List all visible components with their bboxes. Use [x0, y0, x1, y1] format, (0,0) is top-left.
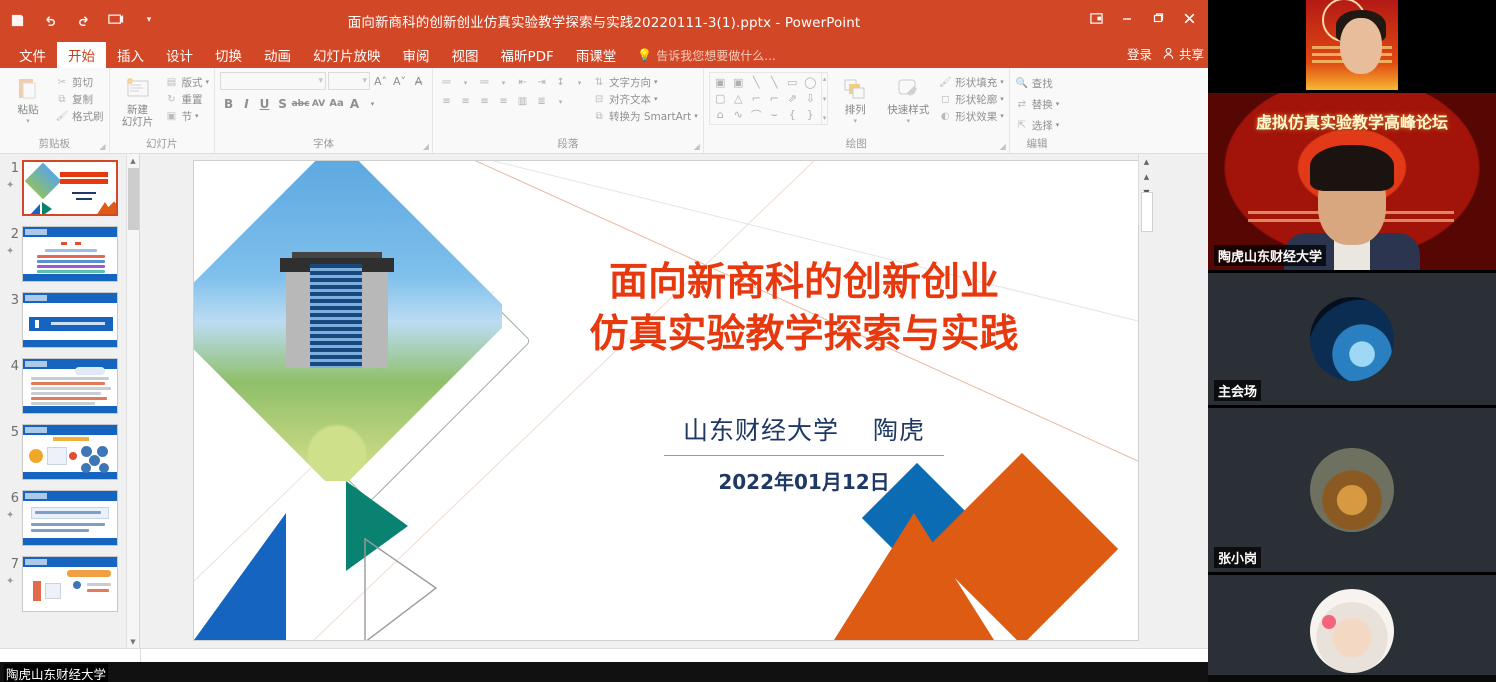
blue-triangle-shape: [194, 513, 286, 640]
girl-avatar: [1310, 589, 1394, 673]
quick-styles-icon: [893, 74, 923, 104]
arrange-label: 排列: [845, 105, 866, 117]
textbox-shape-icon[interactable]: ▣: [712, 75, 729, 90]
ribbon-tabs: 文件 开始 插入 设计 切换 动画 幻灯片放映 审阅 视图 福昕PDF 雨课堂 …: [0, 42, 1208, 68]
slide-scrollbar[interactable]: ▲ ▲ ▼ ⏫ ⏬: [1138, 154, 1154, 225]
chevron-down-icon: ▾: [195, 112, 199, 120]
tab-file[interactable]: 文件: [8, 42, 57, 68]
smartart-icon: ⧉: [592, 109, 606, 123]
ribbon-group-clipboard: 粘贴 ▾ ✂ 剪切 ⧉ 复制 🖌: [0, 68, 110, 153]
building-graphic: [278, 250, 396, 370]
align-center-icon[interactable]: ≡: [457, 94, 474, 109]
author-rule: [664, 455, 944, 456]
strikethrough-button[interactable]: abc: [292, 95, 309, 112]
cut-label: 剪切: [72, 75, 93, 90]
line-arrow-shape-icon[interactable]: ╲: [766, 75, 783, 90]
slide-canvas-pane[interactable]: 面向新商科的创新创业 仿真实验教学探索与实践 山东财经大学陶虎 2022年01月…: [140, 154, 1208, 648]
slide-title-line1: 面向新商科的创新创业: [524, 257, 1084, 309]
shape-outline-icon: ◻: [938, 92, 952, 106]
paragraph-dialog-launcher[interactable]: ◢: [694, 142, 700, 151]
thumb-image: [22, 226, 118, 282]
thumb-number: 4: [2, 358, 19, 373]
align-text-button[interactable]: ⊟ 对齐文本 ▾: [592, 91, 698, 107]
editor-body: 1 ✦: [0, 154, 1208, 648]
increase-font-size-icon[interactable]: A˄: [372, 73, 389, 90]
window-title: 面向新商科的创新创业仿真实验教学探索与实践20220111-3(1).pptx …: [0, 11, 1208, 31]
new-slide-label: 新建幻灯片: [122, 105, 154, 129]
increase-indent-icon[interactable]: ⇥: [533, 75, 550, 90]
paste-button[interactable]: 粘贴 ▾: [5, 72, 51, 125]
character-spacing-button[interactable]: AV: [310, 95, 327, 112]
scroll-up-icon[interactable]: ▲: [1139, 169, 1154, 184]
window-controls: [1081, 6, 1204, 30]
taskbar-strip: 陶虎山东财经大学: [0, 662, 1208, 682]
scroll-thumb[interactable]: [1141, 192, 1153, 232]
new-slide-icon: [123, 74, 153, 104]
select-button[interactable]: ⇱ 选择 ▾: [1015, 116, 1060, 134]
arc-shape-icon[interactable]: ⌒: [748, 107, 765, 122]
slide-canvas[interactable]: 面向新商科的创新创业 仿真实验教学探索与实践 山东财经大学陶虎 2022年01月…: [194, 161, 1138, 640]
font-size-input[interactable]: ▾: [328, 72, 370, 90]
scribble-shape-icon[interactable]: ∿: [730, 107, 747, 122]
ribbon-display-options-button[interactable]: [1081, 6, 1111, 30]
reset-label: 重置: [182, 92, 203, 107]
ribbon: 粘贴 ▾ ✂ 剪切 ⧉ 复制 🖌: [0, 68, 1208, 154]
slide-org: 山东财经大学: [683, 416, 839, 445]
replace-button[interactable]: ⇄ 替换 ▾: [1015, 95, 1060, 113]
participant-name: 主会场: [1214, 380, 1261, 401]
clipboard-dialog-launcher[interactable]: ◢: [99, 142, 105, 151]
rect-shape-icon[interactable]: ▭: [784, 75, 801, 90]
participant-video-feed: [1306, 0, 1398, 90]
collapse-ribbon-icon[interactable]: ▲: [1139, 154, 1154, 169]
align-text-label: 对齐文本: [609, 92, 651, 107]
replace-icon: ⇄: [1015, 97, 1029, 111]
copy-icon: ⧉: [55, 92, 69, 106]
reset-icon: ↻: [165, 92, 179, 106]
participant-tile-taohu[interactable]: 虚拟仿真实验教学高峰论坛 陶虎山东财经大学: [1208, 93, 1496, 270]
thumb-image: [22, 556, 118, 612]
shape-effects-icon: ◐: [938, 109, 952, 123]
paste-label: 粘贴: [18, 105, 39, 117]
slide-thumbnail-5[interactable]: 5: [2, 424, 139, 480]
ribbon-group-editing: 🔍 查找 ⇄ 替换 ▾ ⇱ 选择 ▾: [1010, 68, 1065, 153]
tab-rain-classroom[interactable]: 雨课堂: [565, 42, 628, 68]
restore-button[interactable]: [1143, 6, 1173, 30]
paintbrush-icon: 🖌: [55, 109, 69, 123]
thumb-number: 5: [2, 424, 19, 439]
text-columns-icon[interactable]: ≣: [533, 94, 550, 109]
ribbon-group-drawing: ▣ ▣ ╲ ╲ ▭ ◯ ▢ △ ⌐ ⌐ ⇗ ⇩ ⌂: [704, 68, 1010, 153]
thumb-number: 7: [2, 556, 19, 571]
find-button[interactable]: 🔍 查找: [1015, 74, 1060, 92]
text-direction-label: 文字方向: [609, 75, 651, 90]
copy-button[interactable]: ⧉ 复制: [55, 91, 104, 107]
elbow-connector-icon[interactable]: ⌐: [748, 91, 765, 106]
thumb-number: 6: [2, 490, 19, 505]
align-right-icon[interactable]: ≡: [476, 94, 493, 109]
shape-effects-button[interactable]: ◐ 形状效果 ▾: [938, 108, 1004, 124]
font-color-button[interactable]: A: [346, 95, 363, 112]
format-painter-button[interactable]: 🖌 格式刷: [55, 108, 104, 124]
new-slide-button[interactable]: 新建幻灯片: [115, 72, 161, 129]
change-case-button[interactable]: Aa: [328, 95, 345, 112]
drawing-dialog-launcher[interactable]: ◢: [1000, 142, 1006, 151]
chevron-down-icon: ▾: [1056, 100, 1060, 108]
replace-label: 替换: [1032, 97, 1053, 112]
tell-me-label: 告诉我您想要做什么...: [656, 47, 775, 64]
chevron-down-icon: ▾: [1000, 95, 1004, 103]
powerpoint-window: ▾ 面向新商科的创新创业仿真实验教学探索与实践20220111-3(1).ppt…: [0, 0, 1208, 682]
quick-styles-button[interactable]: 快速样式 ▾: [882, 72, 934, 125]
shape-fill-icon: 🖌: [938, 75, 952, 89]
find-label: 查找: [1032, 76, 1053, 91]
decrease-font-size-icon[interactable]: A˅: [391, 73, 408, 90]
chevron-down-icon: ▾: [1000, 112, 1004, 120]
chevron-down-icon: ▾: [654, 95, 658, 103]
slide-title-line2: 仿真实验教学探索与实践: [524, 309, 1084, 361]
shapes-gallery[interactable]: ▣ ▣ ╲ ╲ ▭ ◯ ▢ △ ⌐ ⌐ ⇗ ⇩ ⌂: [709, 72, 822, 125]
align-left-icon[interactable]: ≡: [438, 94, 455, 109]
left-brace-icon[interactable]: {: [784, 107, 801, 122]
participant-name: 陶虎山东财经大学: [1214, 245, 1326, 266]
thumb-image: [22, 424, 118, 480]
animation-star-icon: ✦: [6, 576, 14, 587]
shape-fill-label: 形状填充: [955, 75, 997, 90]
arrange-button[interactable]: 排列 ▾: [832, 72, 878, 125]
slide-thumbnail-1[interactable]: 1 ✦: [2, 160, 139, 216]
chevron-down-icon[interactable]: ▾: [823, 95, 827, 103]
text-direction-icon: ⇅: [592, 75, 606, 89]
thumb-number: 1: [2, 160, 19, 175]
text-direction-button[interactable]: ⇅ 文字方向 ▾: [592, 74, 698, 90]
group-label-font: 字体: [313, 136, 334, 153]
tab-insert[interactable]: 插入: [106, 42, 155, 68]
video-participants-panel: 张莉 虚拟仿真实验教学高峰论坛 陶虎山东财经大学 主会场 张小岗: [1208, 0, 1496, 682]
forum-banner-text: 虚拟仿真实验教学高峰论坛: [1208, 109, 1496, 133]
ribbon-group-slides: 新建幻灯片 ▤ 版式 ▾ ↻ 重置 ▣: [110, 68, 216, 153]
chevron-down-icon[interactable]: ▾: [571, 75, 588, 90]
ribbon-group-font: ▾ ▾ A˄ A˅ A̶ B I U S abc: [215, 68, 433, 153]
paste-icon: [13, 74, 43, 104]
slide-presenter: 陶虎: [873, 416, 925, 445]
freeform-shape-icon[interactable]: ⌂: [712, 107, 729, 122]
slide-thumbnail-7[interactable]: 7 ✦: [2, 556, 139, 612]
more-shapes-icon[interactable]: ▾: [823, 114, 827, 122]
line-shape-icon[interactable]: ╲: [748, 75, 765, 90]
tab-transitions[interactable]: 切换: [204, 42, 253, 68]
layout-button[interactable]: ▤ 版式 ▾: [165, 74, 210, 90]
violin-avatar: [1310, 448, 1394, 532]
font-name-input[interactable]: ▾: [220, 72, 326, 90]
animation-star-icon: ✦: [6, 180, 14, 191]
chevron-down-icon: ▾: [206, 78, 210, 86]
group-label-paragraph: 段落: [557, 136, 578, 153]
shape-outline-button[interactable]: ◻ 形状轮廓 ▾: [938, 91, 1004, 107]
triangle-shape-icon[interactable]: △: [730, 91, 747, 106]
scissors-icon: ✂: [55, 75, 69, 89]
shape-outline-label: 形状轮廓: [955, 92, 997, 107]
cut-button[interactable]: ✂ 剪切: [55, 74, 104, 90]
thumb-image: [22, 292, 118, 348]
group-label-slides: 幻灯片: [146, 136, 178, 153]
section-button[interactable]: ▣ 节 ▾: [165, 108, 210, 124]
align-text-icon: ⊟: [592, 92, 606, 106]
tab-view[interactable]: 视图: [441, 42, 490, 68]
scroll-down-icon[interactable]: ▼: [127, 635, 139, 648]
speaker-name-label: 陶虎山东财经大学: [4, 664, 108, 682]
bullets-icon[interactable]: ≔: [438, 75, 455, 90]
chevron-down-icon: ▾: [1056, 121, 1060, 129]
quick-styles-label: 快速样式: [887, 105, 929, 117]
animation-star-icon: ✦: [6, 246, 14, 257]
line-spacing-icon[interactable]: ↕: [552, 75, 569, 90]
chevron-down-icon: ▾: [1000, 78, 1004, 86]
font-dialog-launcher[interactable]: ◢: [423, 142, 429, 151]
participant-tile-mainhall[interactable]: 主会场: [1208, 273, 1496, 405]
decrease-indent-icon[interactable]: ⇤: [514, 75, 531, 90]
participant-tile-zhangli[interactable]: 张莉: [1208, 0, 1496, 90]
tell-me-search[interactable]: 💡 告诉我您想要做什么...: [637, 42, 775, 68]
slide-thumbnail-2[interactable]: 2 ✦: [2, 226, 139, 282]
curved-arrow-icon[interactable]: ⇗: [784, 91, 801, 106]
thumb-image: [22, 160, 118, 216]
slide-thumbnail-pane[interactable]: 1 ✦: [0, 154, 140, 648]
shapes-gallery-scroll[interactable]: ▴ ▾ ▾: [822, 72, 829, 125]
ribbon-group-paragraph: ≔ ▾ ≔ ▾ ⇤ ⇥ ↕ ▾ ≡ ≡ ≡: [433, 68, 704, 153]
minimize-button[interactable]: [1112, 6, 1142, 30]
search-icon: 🔍: [1015, 76, 1029, 90]
down-arrow-icon[interactable]: ⇩: [802, 91, 819, 106]
paste-dropdown-icon[interactable]: ▾: [26, 117, 30, 125]
speaker-face: [1340, 18, 1382, 74]
bold-button[interactable]: B: [220, 95, 237, 112]
chevron-down-icon[interactable]: ▾: [495, 75, 512, 90]
select-label: 选择: [1032, 118, 1053, 133]
right-brace-icon[interactable]: }: [802, 107, 819, 122]
animation-star-icon: ✦: [6, 510, 14, 521]
tab-design[interactable]: 设计: [155, 42, 204, 68]
earth-avatar: [1310, 297, 1394, 381]
slide-thumbnail-3[interactable]: 3: [2, 292, 139, 348]
thumb-number: 3: [2, 292, 19, 307]
shape-effects-label: 形状效果: [955, 109, 997, 124]
thumbnail-scrollbar[interactable]: ▲ ▼: [126, 154, 139, 648]
section-icon: ▣: [165, 109, 179, 123]
underline-button[interactable]: U: [256, 95, 273, 112]
chevron-up-icon[interactable]: ▴: [823, 75, 827, 83]
thumb-image: [22, 358, 118, 414]
text-shadow-button[interactable]: S: [274, 95, 291, 112]
chevron-down-icon[interactable]: ▾: [364, 95, 381, 112]
group-label-editing: 编辑: [1027, 136, 1048, 153]
format-painter-label: 格式刷: [72, 109, 104, 124]
participant-name: 张小岗: [1214, 547, 1261, 568]
select-icon: ⇱: [1015, 118, 1029, 132]
thumb-image: [22, 490, 118, 546]
slide-thumbnail-4[interactable]: 4: [2, 358, 139, 414]
thumb-number: 2: [2, 226, 19, 241]
convert-to-smartart-button[interactable]: ⧉ 转换为 SmartArt ▾: [592, 108, 698, 124]
tab-review[interactable]: 审阅: [392, 42, 441, 68]
clear-formatting-icon[interactable]: A̶: [410, 73, 427, 90]
slide-title: 面向新商科的创新创业 仿真实验教学探索与实践: [524, 257, 1084, 361]
chevron-down-icon: ▾: [694, 112, 698, 120]
numbering-icon[interactable]: ≔: [476, 75, 493, 90]
lightbulb-icon: 💡: [637, 48, 652, 62]
tab-foxit-pdf[interactable]: 福昕PDF: [490, 42, 565, 68]
slide-thumbnail-6[interactable]: 6 ✦: [2, 490, 139, 546]
textbox2-shape-icon[interactable]: ▣: [730, 75, 747, 90]
account-area: 登录 共享: [1127, 44, 1204, 63]
reset-button[interactable]: ↻ 重置: [165, 91, 210, 107]
participant-tile-next[interactable]: [1208, 575, 1496, 675]
tab-home[interactable]: 开始: [57, 42, 106, 68]
group-label-drawing: 绘图: [846, 136, 867, 153]
slide-author: 山东财经大学陶虎: [524, 411, 1084, 447]
copy-label: 复制: [72, 92, 93, 107]
sign-in-button[interactable]: 登录: [1127, 44, 1152, 63]
section-label: 节: [182, 109, 193, 124]
oval-shape-icon[interactable]: ◯: [802, 75, 819, 90]
chevron-down-icon[interactable]: ▾: [854, 117, 858, 125]
layout-icon: ▤: [165, 75, 179, 89]
smartart-label: 转换为 SmartArt: [609, 109, 691, 124]
arc2-shape-icon[interactable]: ⌣: [766, 107, 783, 122]
tab-slideshow[interactable]: 幻灯片放映: [302, 42, 392, 68]
chevron-down-icon[interactable]: ▾: [552, 94, 569, 109]
elbow-arrow-icon[interactable]: ⌐: [766, 91, 783, 106]
share-button[interactable]: 共享: [1162, 44, 1204, 63]
scroll-thumb[interactable]: [128, 168, 139, 230]
rounded-rect-shape-icon[interactable]: ▢: [712, 91, 729, 106]
italic-button[interactable]: I: [238, 95, 255, 112]
tab-animations[interactable]: 动画: [253, 42, 302, 68]
person-icon: [1162, 47, 1175, 60]
layout-label: 版式: [182, 75, 203, 90]
justify-icon[interactable]: ≡: [495, 94, 512, 109]
close-button[interactable]: [1174, 6, 1204, 30]
title-bar: ▾ 面向新商科的创新创业仿真实验教学探索与实践20220111-3(1).ppt…: [0, 0, 1208, 42]
columns-icon[interactable]: ▥: [514, 94, 531, 109]
scroll-up-icon[interactable]: ▲: [127, 154, 139, 167]
arrange-icon: [840, 74, 870, 104]
chevron-down-icon[interactable]: ▾: [457, 75, 474, 90]
chevron-down-icon: ▾: [654, 78, 658, 86]
share-label: 共享: [1179, 44, 1204, 63]
chevron-down-icon[interactable]: ▾: [907, 117, 911, 125]
shape-fill-button[interactable]: 🖌 形状填充 ▾: [938, 74, 1004, 90]
group-label-clipboard: 剪贴板: [39, 136, 71, 153]
participant-tile-zhangxiaogang[interactable]: 张小岗: [1208, 408, 1496, 572]
